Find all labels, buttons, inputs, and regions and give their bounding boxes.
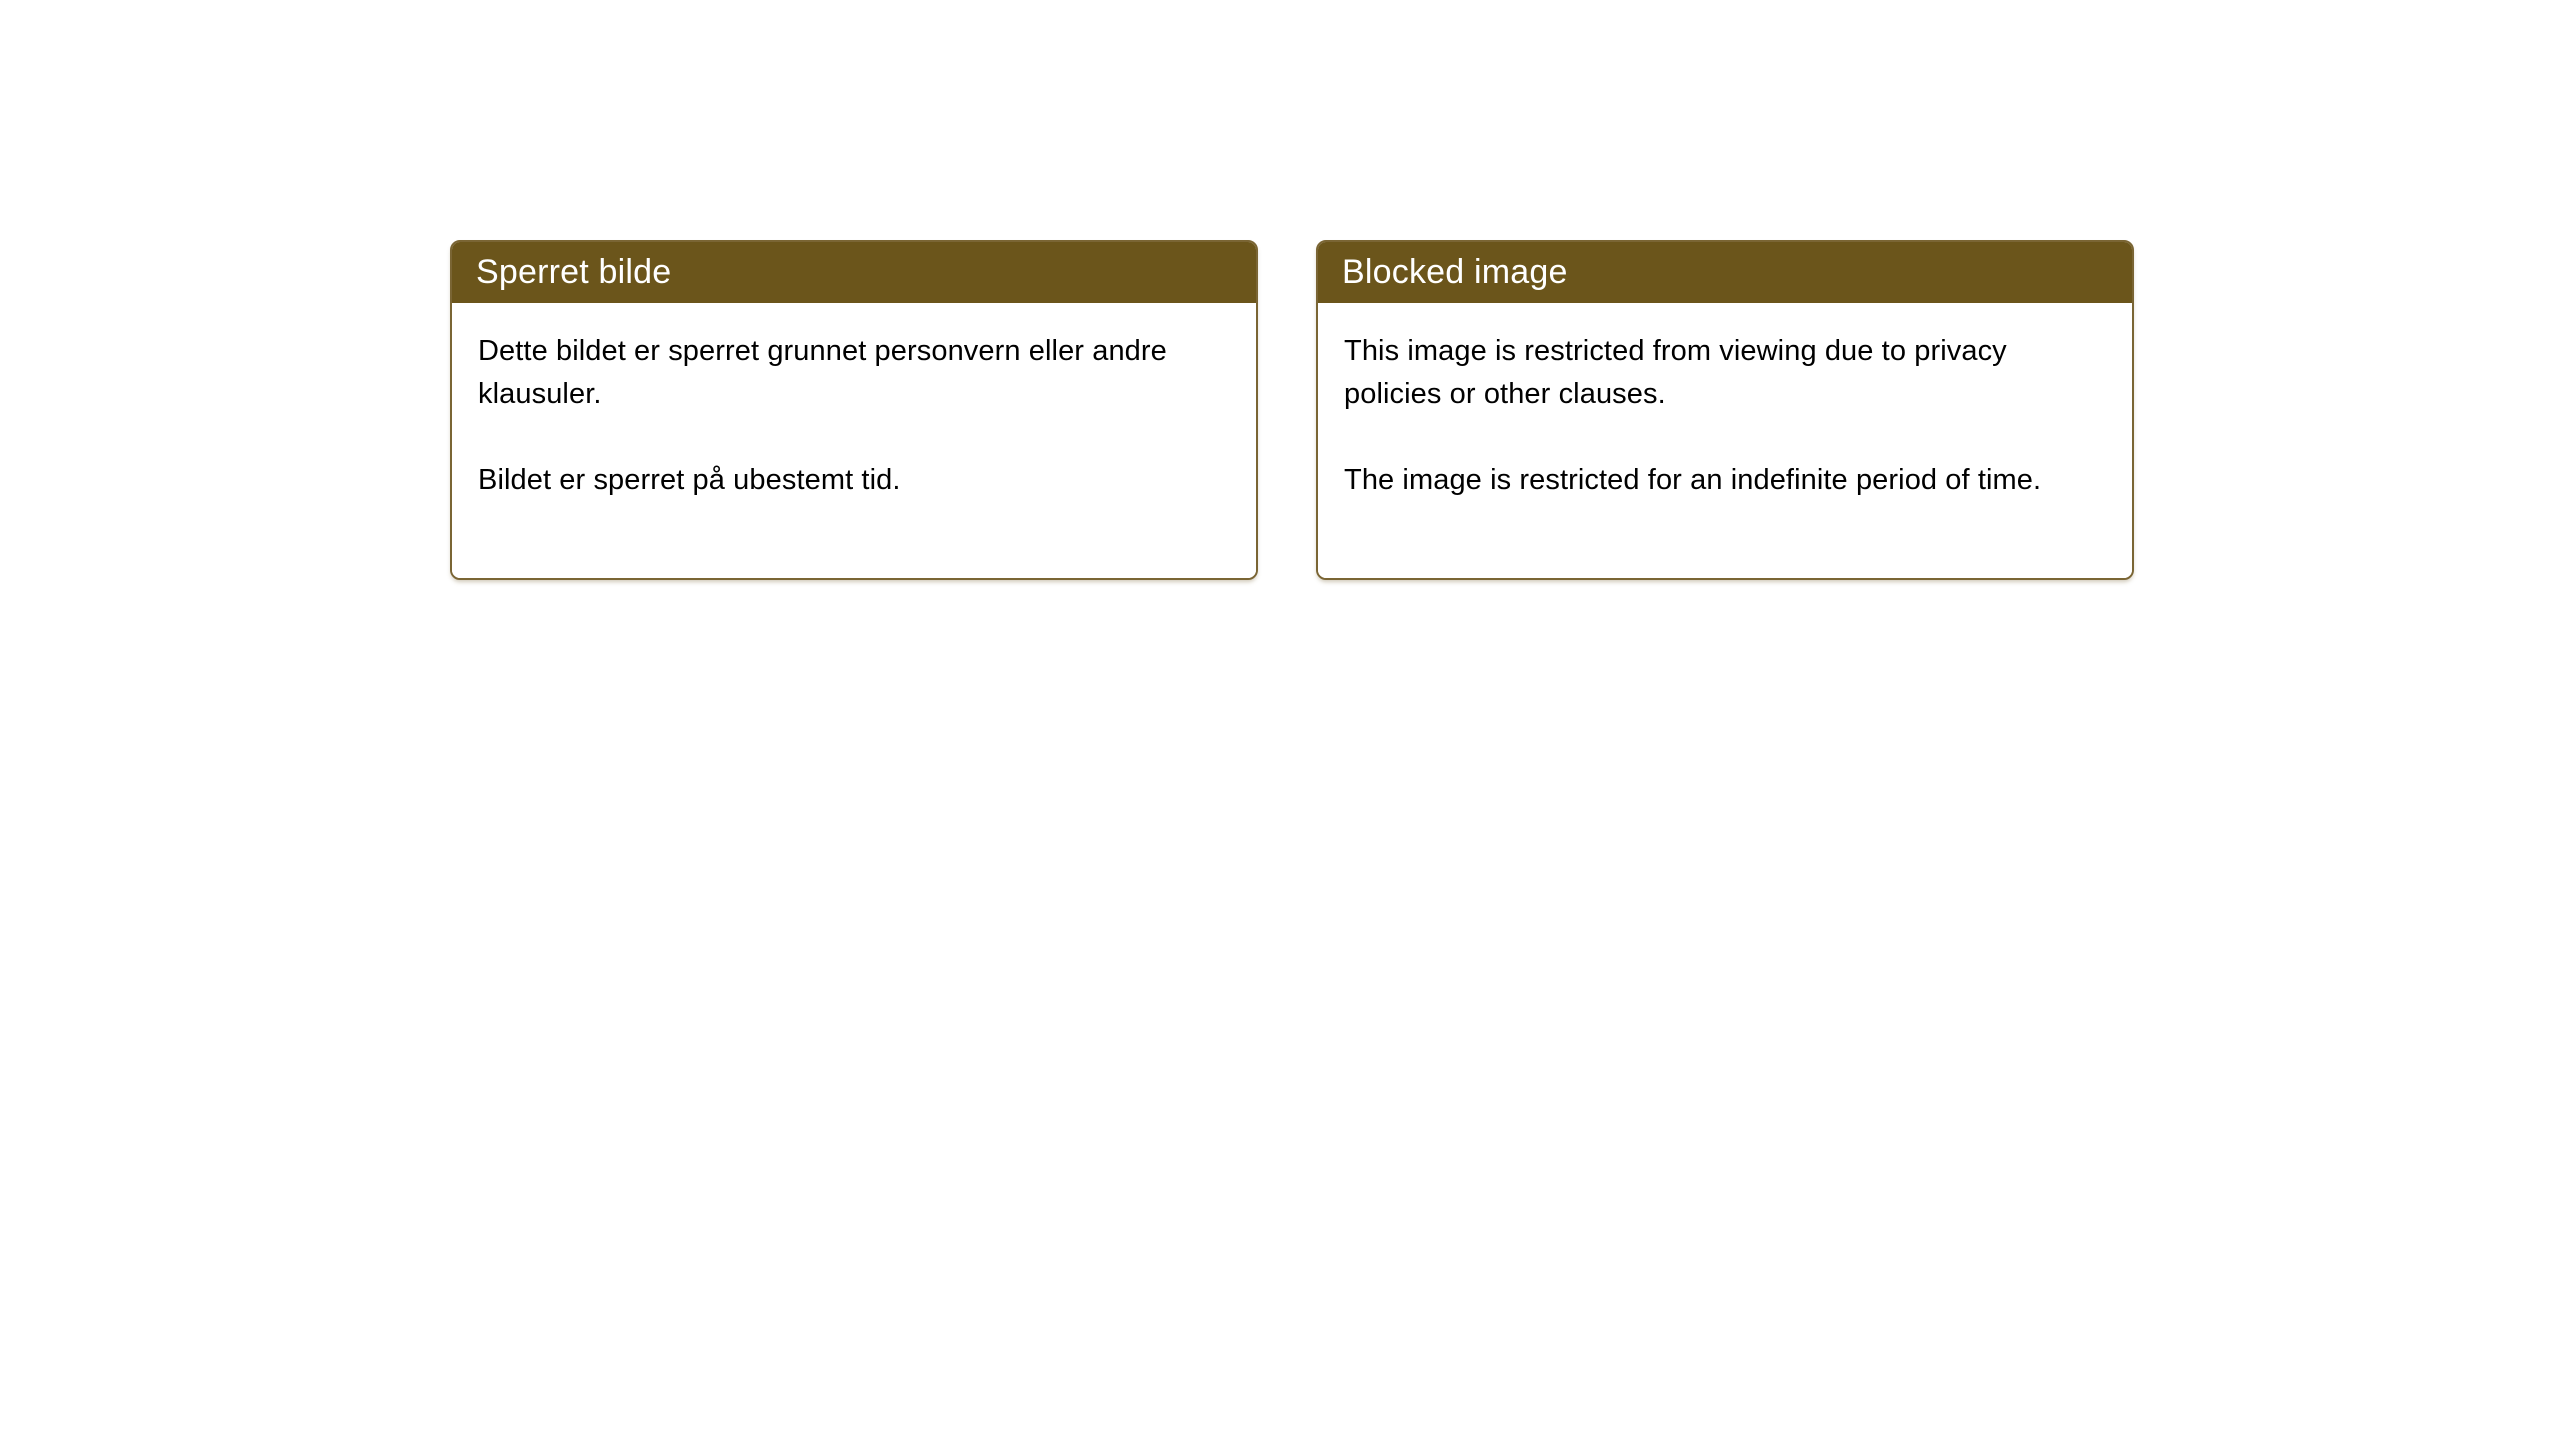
blocked-image-card-norwegian: Sperret bilde Dette bildet er sperret gr… xyxy=(450,240,1258,580)
card-paragraph-duration-english: The image is restricted for an indefinit… xyxy=(1344,459,2110,502)
card-body-english: This image is restricted from viewing du… xyxy=(1318,303,2132,578)
blocked-image-notices: Sperret bilde Dette bildet er sperret gr… xyxy=(450,240,2134,580)
card-title-english: Blocked image xyxy=(1318,242,2132,303)
card-paragraph-reason-english: This image is restricted from viewing du… xyxy=(1344,330,2110,416)
card-body-norwegian: Dette bildet er sperret grunnet personve… xyxy=(452,303,1256,578)
card-paragraph-reason-norwegian: Dette bildet er sperret grunnet personve… xyxy=(478,330,1234,416)
card-title-norwegian: Sperret bilde xyxy=(452,242,1256,303)
card-paragraph-duration-norwegian: Bildet er sperret på ubestemt tid. xyxy=(478,459,1234,502)
blocked-image-card-english: Blocked image This image is restricted f… xyxy=(1316,240,2134,580)
